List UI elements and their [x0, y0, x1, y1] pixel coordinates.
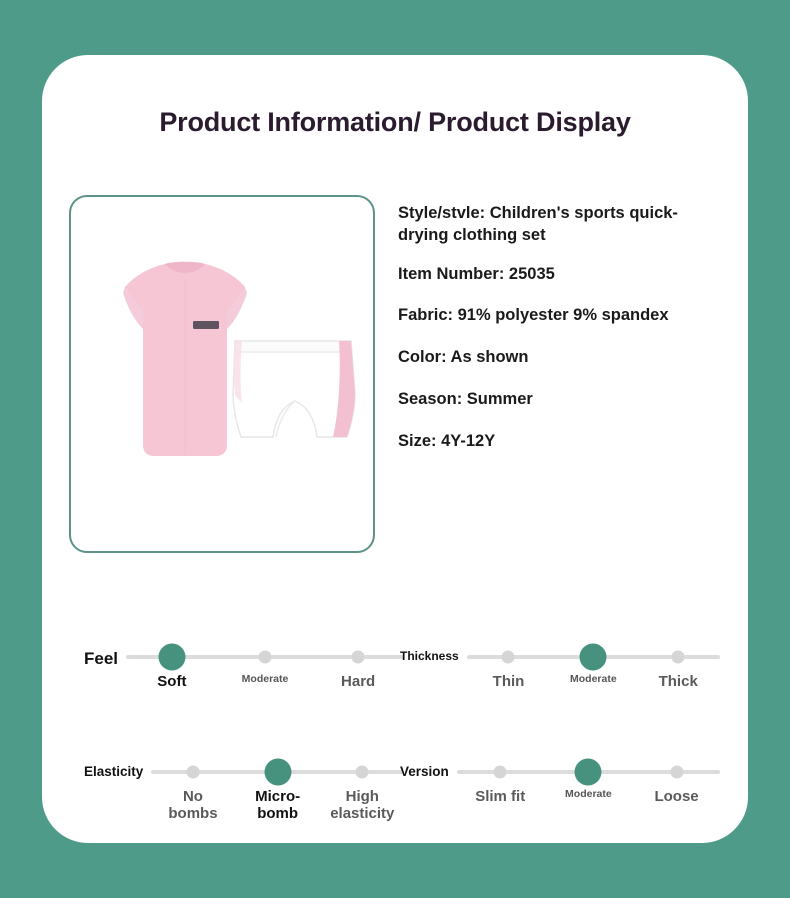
slider-version-option-label-2[interactable]: Loose [654, 788, 698, 805]
slider-elasticity-dot-1[interactable] [264, 759, 291, 786]
slider-thickness-dot-1[interactable] [580, 644, 607, 671]
page-title: Product Information/ Product Display [42, 107, 748, 138]
slider-thickness-option-label-1[interactable]: Moderate [570, 673, 617, 685]
slider-elasticity[interactable]: Elasticity No bombsMicro- bombHigh elast… [84, 758, 404, 832]
spec-item-number: Item Number: 25035 [398, 264, 718, 286]
slider-feel[interactable]: Feel SoftModerateHard [84, 643, 404, 717]
slider-elasticity-option-label-0[interactable]: No bombs [168, 788, 217, 823]
slider-version-dot-1[interactable] [575, 759, 602, 786]
slider-elasticity-option-label-1[interactable]: Micro- bomb [255, 788, 300, 823]
slider-feel-option-label-0[interactable]: Soft [157, 673, 186, 690]
tank-top-graphic [123, 262, 247, 456]
slider-feel-track-area[interactable]: SoftModerateHard [126, 643, 404, 717]
product-info-page: Product Information/ Product Display [0, 0, 790, 898]
clothing-set-illustration [77, 249, 367, 499]
slider-elasticity-label: Elasticity [84, 758, 143, 779]
spec-style: Style/stvle: Children's sports quick-dry… [398, 203, 718, 247]
spec-season: Season: Summer [398, 389, 718, 411]
slider-elasticity-dot-2[interactable] [356, 766, 369, 779]
spec-color: Color: As shown [398, 347, 718, 369]
slider-thickness[interactable]: Thickness ThinModerateThick [400, 643, 720, 717]
slider-elasticity-dot-0[interactable] [186, 766, 199, 779]
slider-thickness-label: Thickness [400, 643, 459, 663]
slider-thickness-option-label-0[interactable]: Thin [493, 673, 525, 690]
slider-thickness-dot-2[interactable] [672, 651, 685, 664]
product-spec-list: Style/stvle: Children's sports quick-dry… [398, 203, 718, 452]
slider-version-label: Version [400, 758, 449, 779]
slider-elasticity-option-label-2[interactable]: High elasticity [330, 788, 394, 823]
slider-version-option-label-0[interactable]: Slim fit [475, 788, 525, 805]
slider-version-option-label-1[interactable]: Moderate [565, 788, 612, 800]
slider-feel-dot-1[interactable] [259, 651, 272, 664]
slider-elasticity-track-area[interactable]: No bombsMicro- bombHigh elasticity [151, 758, 404, 832]
slider-feel-dot-0[interactable] [158, 644, 185, 671]
slider-thickness-option-label-2[interactable]: Thick [659, 673, 698, 690]
spec-size: Size: 4Y-12Y [398, 431, 718, 453]
product-image-frame[interactable] [69, 195, 375, 553]
shorts-graphic [233, 341, 355, 437]
slider-feel-option-label-1[interactable]: Moderate [242, 673, 289, 685]
slider-version[interactable]: Version Slim fitModerateLoose [400, 758, 720, 832]
slider-version-track-area[interactable]: Slim fitModerateLoose [457, 758, 720, 832]
spec-fabric: Fabric: 91% polyester 9% spandex [398, 305, 718, 327]
product-card: Product Information/ Product Display [42, 55, 748, 843]
slider-version-dot-0[interactable] [494, 766, 507, 779]
slider-feel-label: Feel [84, 643, 118, 669]
slider-thickness-track-area[interactable]: ThinModerateThick [467, 643, 720, 717]
slider-version-dot-2[interactable] [670, 766, 683, 779]
product-image [71, 197, 373, 551]
slider-feel-option-label-2[interactable]: Hard [341, 673, 375, 690]
slider-feel-dot-2[interactable] [352, 651, 365, 664]
slider-thickness-dot-0[interactable] [502, 651, 515, 664]
attribute-sliders: Feel SoftModerateHard Thickness ThinMode… [42, 585, 748, 835]
